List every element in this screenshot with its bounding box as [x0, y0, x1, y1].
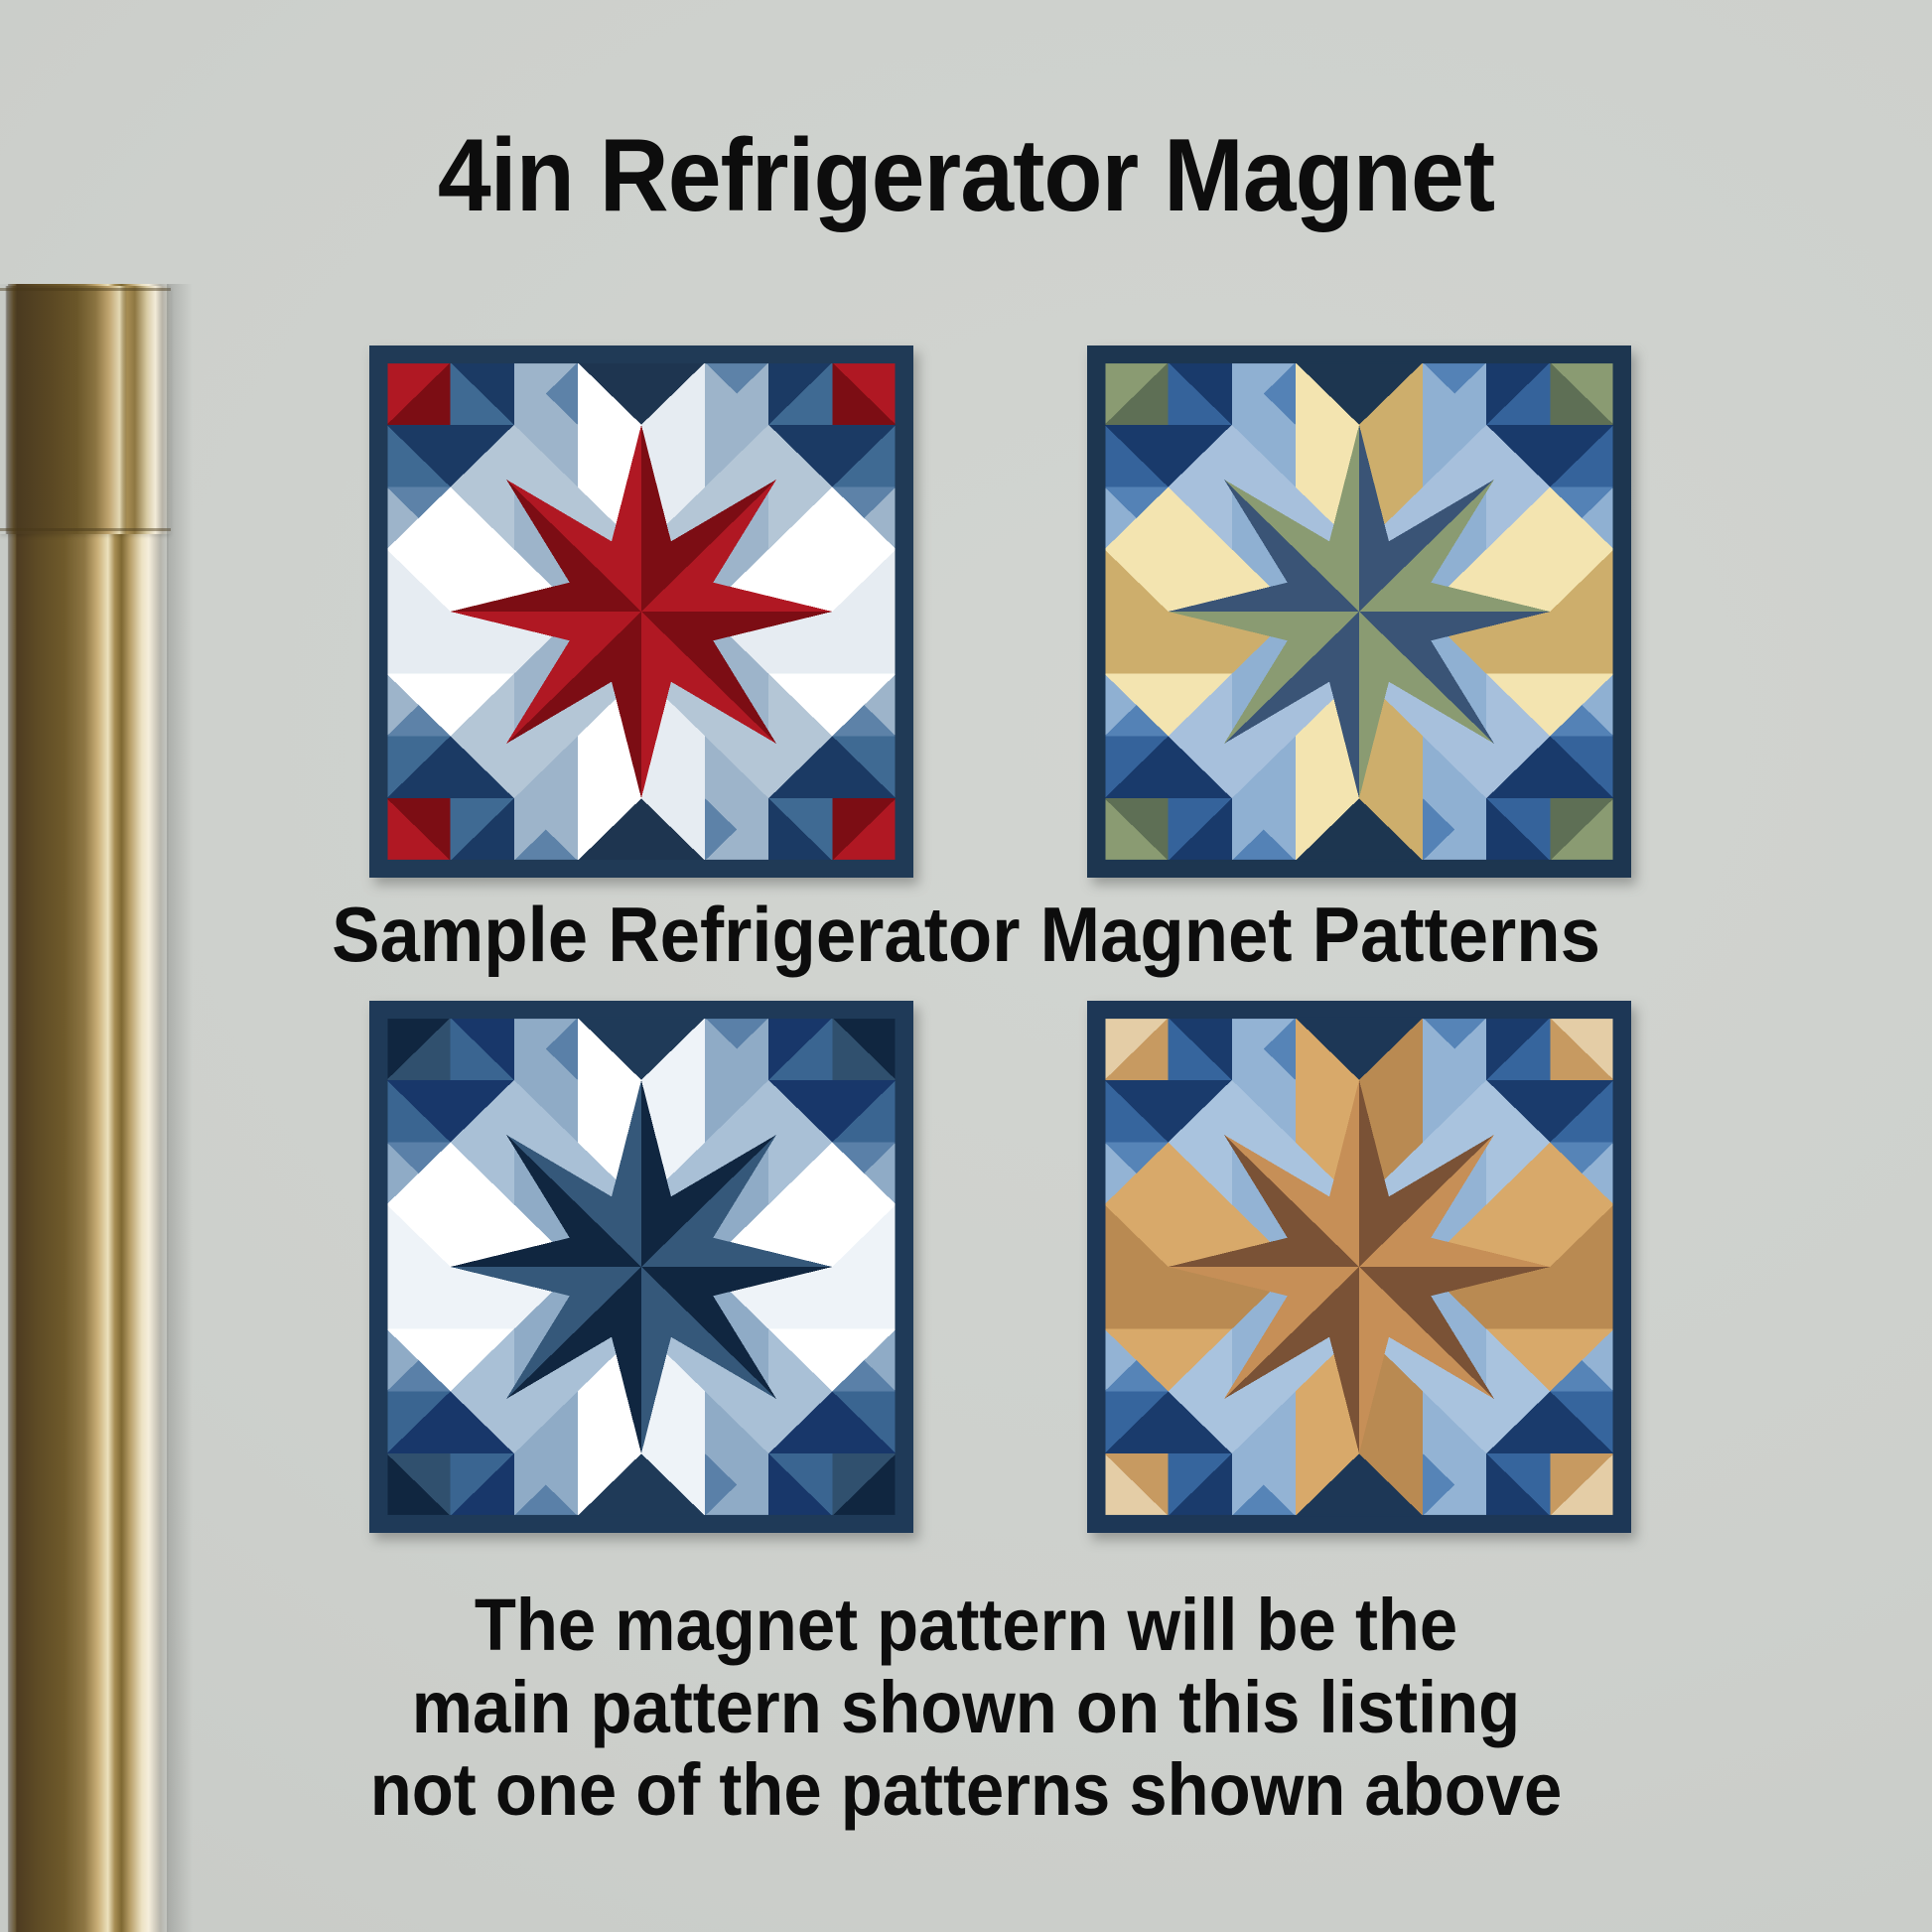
quilt-svg-2	[1087, 345, 1631, 878]
brass-pole-cap	[0, 286, 171, 534]
mid-caption: Sample Refrigerator Magnet Patterns	[68, 890, 1864, 980]
quilt-bottom-right[interactable]	[1087, 1001, 1631, 1533]
magnet-listing-image: 4in Refrigerator Magnet Sample Refrigera…	[0, 0, 1932, 1932]
quilt-bottom-left[interactable]	[369, 1001, 913, 1533]
footer-line-1: The magnet pattern will be the	[68, 1585, 1864, 1667]
footer-line-3: not one of the patterns shown above	[68, 1749, 1864, 1832]
footer-line-2: main pattern shown on this listing	[68, 1667, 1864, 1749]
footer-note: The magnet pattern will be the main patt…	[68, 1585, 1864, 1832]
quilt-svg-3	[369, 1001, 913, 1533]
quilt-svg-1	[369, 345, 913, 878]
quilt-top-right[interactable]	[1087, 345, 1631, 878]
quilt-top-left[interactable]	[369, 345, 913, 878]
quilt-svg-4	[1087, 1001, 1631, 1533]
page-title: 4in Refrigerator Magnet	[68, 117, 1864, 235]
